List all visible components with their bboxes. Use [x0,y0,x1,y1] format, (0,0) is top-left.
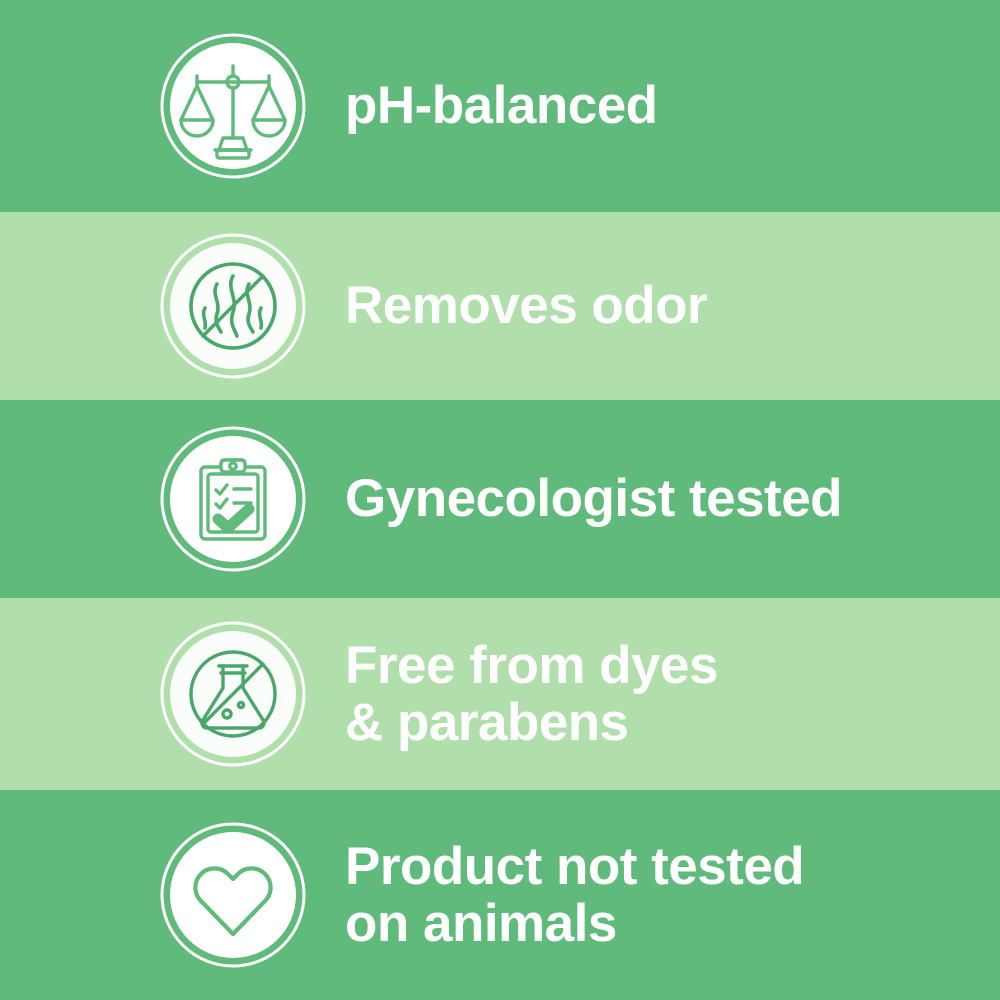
icon-wrap [143,821,323,969]
no-chemicals-flask-icon [159,620,307,768]
benefit-label: Gynecologist tested [345,470,842,527]
benefit-label: Removes odor [345,277,707,334]
heart-icon [159,821,307,969]
benefit-row: pH-balanced [0,0,1000,212]
benefit-label: pH-balanced [345,77,658,134]
benefit-row: Gynecologist tested [0,400,1000,598]
benefits-panel: pH-balanced [0,0,1000,1000]
icon-wrap [143,620,323,768]
balance-scale-icon [159,32,307,180]
benefit-row: Product not tested on animals [0,790,1000,1000]
benefit-row: Removes odor [0,212,1000,400]
benefit-label: Product not tested on animals [345,838,804,952]
icon-wrap [143,32,323,180]
no-odor-icon [159,232,307,380]
benefit-label: Free from dyes & parabens [345,637,718,751]
benefit-row: Free from dyes & parabens [0,598,1000,790]
icon-wrap [143,232,323,380]
icon-wrap [143,425,323,573]
clipboard-checklist-icon [159,425,307,573]
